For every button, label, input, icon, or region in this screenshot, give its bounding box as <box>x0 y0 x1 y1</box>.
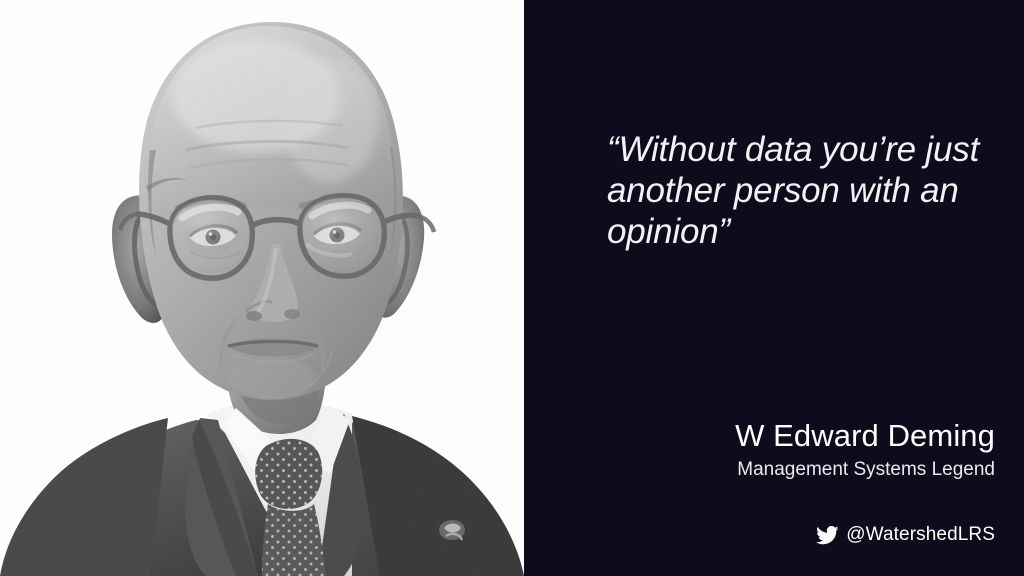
author-name: W Edward Deming <box>524 418 995 454</box>
attribution-block: W Edward Deming Management Systems Legen… <box>524 418 995 481</box>
quote-panel: “Without data you’re just another person… <box>524 0 1024 576</box>
quote-slide: “Without data you’re just another person… <box>0 0 1024 576</box>
author-title: Management Systems Legend <box>524 458 995 481</box>
quote-text: “Without data you’re just another person… <box>607 129 999 252</box>
twitter-bird-icon <box>816 526 839 545</box>
social-handle[interactable]: @WatershedLRS <box>816 524 995 546</box>
portrait-photo-panel <box>0 0 524 576</box>
twitter-handle-text: @WatershedLRS <box>846 524 995 546</box>
portrait-photo <box>0 0 524 576</box>
